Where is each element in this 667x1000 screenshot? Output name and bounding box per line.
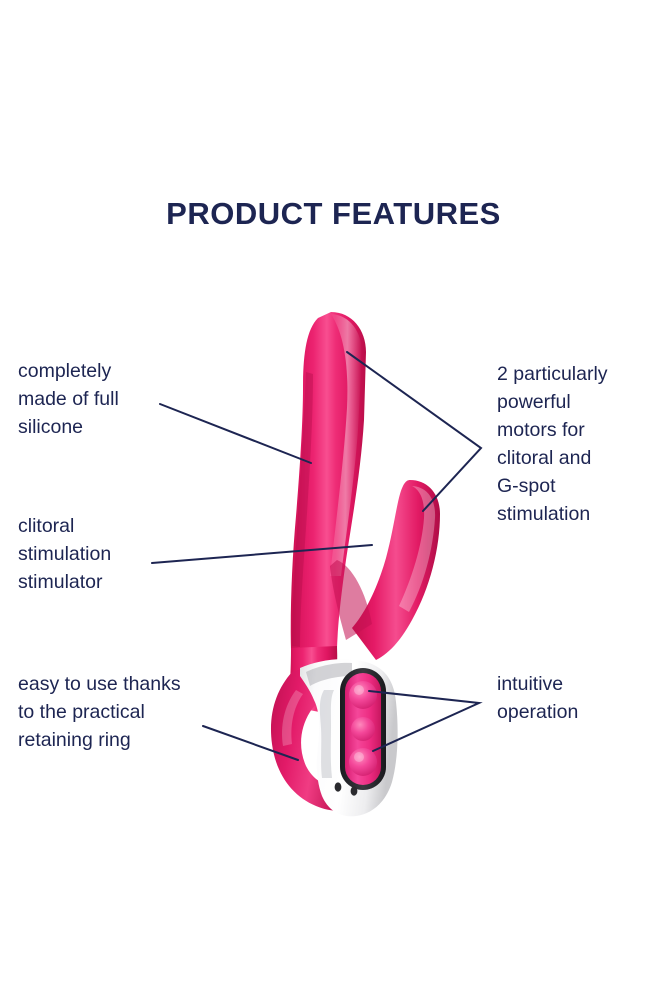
callout-motors: 2 particularly powerful motors for clito… — [497, 360, 667, 528]
leader-line-intuitive — [369, 691, 479, 751]
control-panel — [340, 668, 386, 790]
lower-shaft — [288, 646, 337, 714]
main-shaft — [291, 312, 366, 650]
button-power — [351, 717, 375, 741]
callout-intuitive-operation: intuitive operation — [497, 670, 657, 726]
retaining-ring — [271, 666, 352, 811]
white-handle — [300, 659, 398, 816]
leader-line-motors — [347, 352, 481, 511]
arm-junction — [330, 560, 372, 640]
product-features-page: PRODUCT FEATURES — [0, 0, 667, 1000]
callout-retaining-ring: easy to use thanks to the practical reta… — [18, 670, 248, 754]
clitoral-arm — [352, 480, 440, 660]
charging-contacts — [335, 782, 358, 795]
page-title: PRODUCT FEATURES — [0, 196, 667, 232]
button-minus — [349, 748, 377, 776]
callout-silicone: completely made of full silicone — [18, 357, 208, 441]
button-plus — [349, 681, 377, 709]
callout-clitoral-stimulator: clitoral stimulation stimulator — [18, 512, 218, 596]
